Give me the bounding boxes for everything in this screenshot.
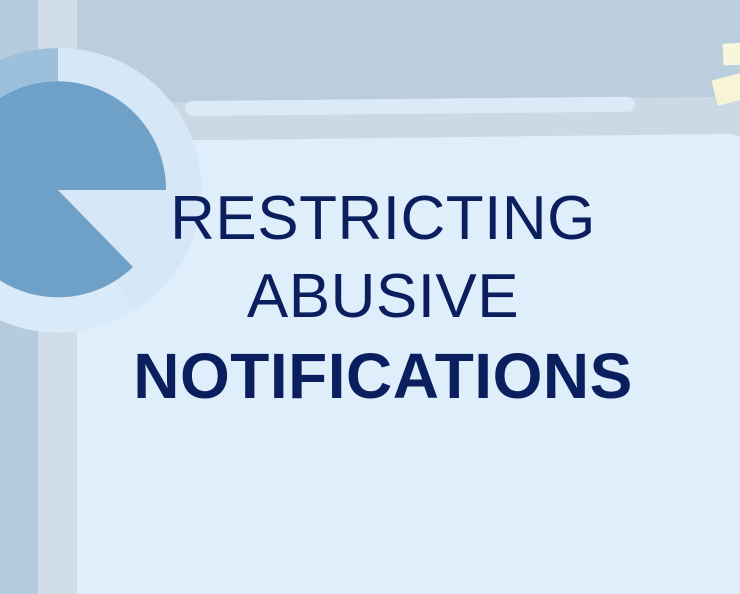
- headline-line-1: RESTRICTING: [77, 188, 689, 250]
- slide-canvas: RESTRICTING ABUSIVE NOTIFICATIONS: [0, 0, 740, 594]
- sticky-note-icon-top: [722, 42, 740, 65]
- headline-line-2: ABUSIVE: [77, 266, 689, 328]
- page-title: RESTRICTING ABUSIVE NOTIFICATIONS: [77, 188, 689, 408]
- headline-line-3: NOTIFICATIONS: [77, 344, 689, 408]
